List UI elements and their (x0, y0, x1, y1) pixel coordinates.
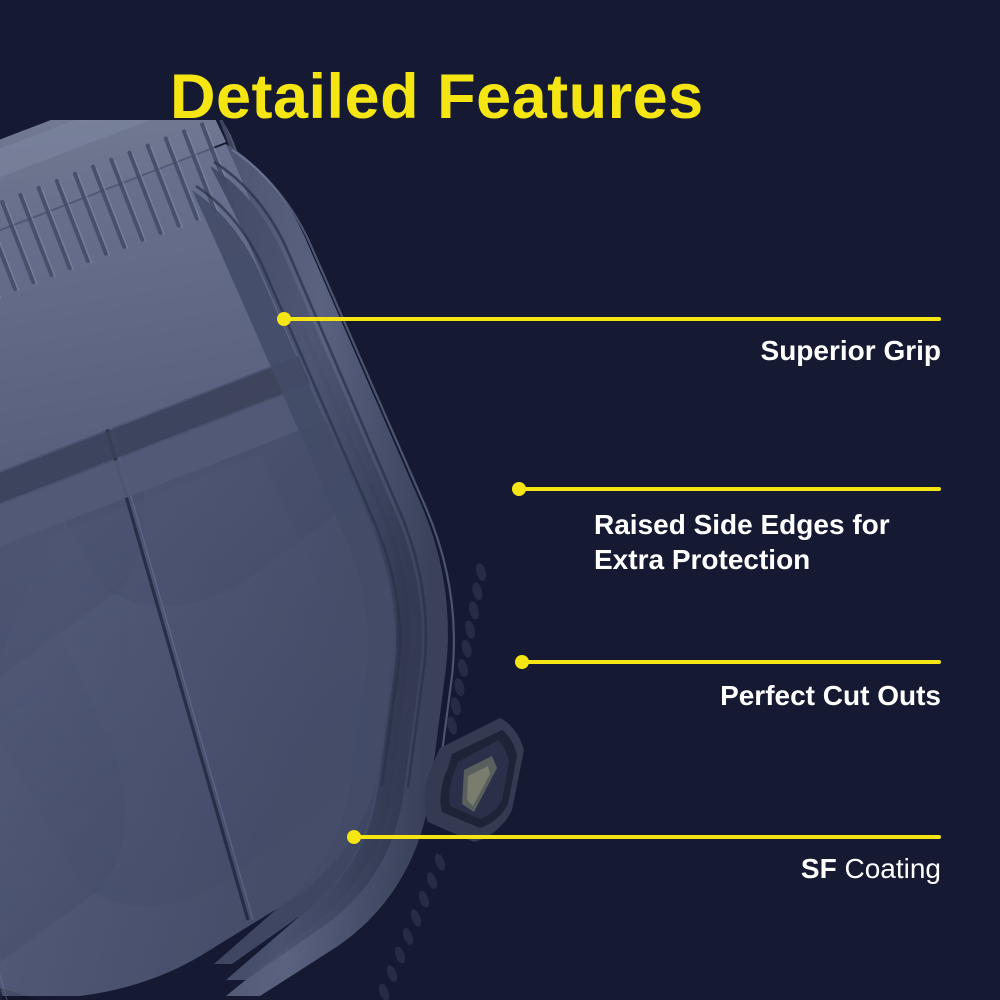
callout-label-sf-coating-light: Coating (837, 853, 941, 884)
infographic-canvas: Detailed Features (0, 0, 1000, 1000)
callout-label-sf-coating-bold: SF (801, 853, 837, 884)
callout-label-superior-grip: Superior Grip (441, 333, 941, 368)
leader-line-raised-side-edges (519, 487, 941, 491)
leader-line-sf-coating (354, 835, 941, 839)
leader-line-superior-grip (284, 317, 941, 321)
callout-label-raised-side-edges: Raised Side Edges for Extra Protection (594, 507, 994, 578)
callout-label-perfect-cut-outs: Perfect Cut Outs (441, 678, 941, 713)
leader-line-perfect-cut-outs (522, 660, 941, 664)
callout-label-sf-coating: SF Coating (441, 851, 941, 886)
